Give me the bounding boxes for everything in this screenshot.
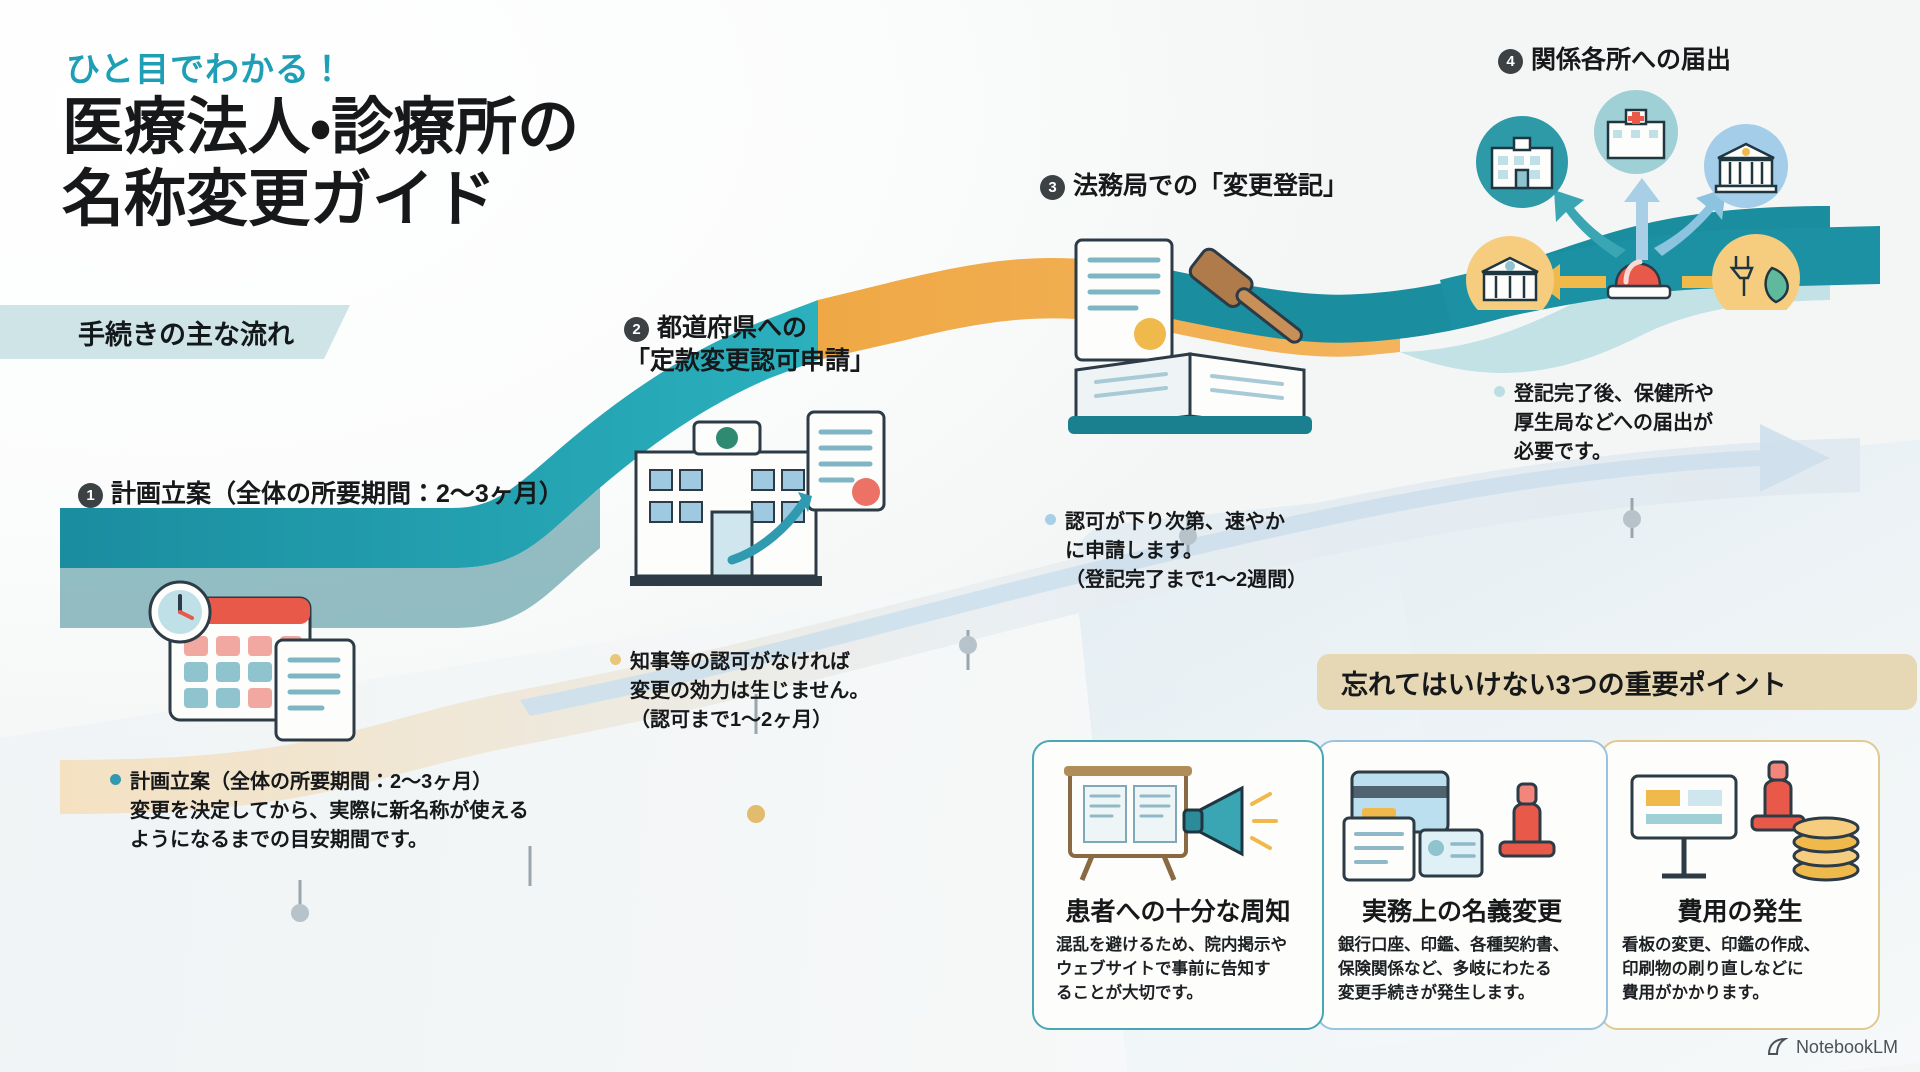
key-point-card-1[interactable]: 患者への十分な周知 混乱を避けるため、院内掲示や ウェブサイトで事前に告知す る… xyxy=(1032,740,1324,1030)
step-2-bullet-line-2: 変更の効力は生じません。 xyxy=(610,677,910,706)
notification-broadcast-institutions-icon xyxy=(1450,90,1810,310)
key-point-1-body-line-1: 混乱を避けるため、院内掲示や xyxy=(1056,934,1306,958)
step-1-number: 1 xyxy=(78,483,103,508)
step-3-bullet-line-3: （登記完了まで1〜2週間） xyxy=(1045,566,1365,595)
step-3-number: 3 xyxy=(1040,175,1065,200)
step-2-heading-line-2: 「定款変更認可申請」 xyxy=(624,345,875,378)
step-4-bullet-dot xyxy=(1494,386,1505,397)
step-3-bullet-dot xyxy=(1045,514,1056,525)
step-4-number: 4 xyxy=(1498,49,1523,74)
step-2-heading-line-1: 都道府県への xyxy=(657,314,807,342)
key-point-1-body-line-3: ることが大切です。 xyxy=(1056,982,1306,1006)
siren-icon xyxy=(1608,262,1670,298)
step-2-bullet: 知事等の認可がなければ 変更の効力は生じません。 （認可まで1〜2ヶ月） xyxy=(610,648,910,735)
stamp-icon xyxy=(1500,784,1554,856)
key-point-card-3[interactable]: 費用の発生 看板の変更、印鑑の作成、 印刷物の刷り直しなどに 費用がかかります。 xyxy=(1600,740,1880,1030)
key-points-banner: 忘れてはいけない3つの重要ポイント xyxy=(1317,654,1917,710)
key-point-1-title: 患者への十分な周知 xyxy=(1034,892,1322,928)
step-3-heading: 3法務局での「変更登記」 xyxy=(1040,170,1348,203)
key-point-2-body-line-3: 変更手続きが発生します。 xyxy=(1338,982,1590,1006)
step-3-bullet-line-2: に申請します。 xyxy=(1045,537,1365,566)
step-4-bullet: 登記完了後、保健所や 厚生局などへの届出が 必要です。 xyxy=(1494,380,1804,467)
key-points-cards: 患者への十分な周知 混乱を避けるため、院内掲示や ウェブサイトで事前に告知す る… xyxy=(1032,740,1894,1030)
page-title-line-2: 名称変更ガイド xyxy=(62,164,579,236)
key-point-1-body-line-2: ウェブサイトで事前に告知す xyxy=(1056,958,1306,982)
step-1-bullet-lead: 計画立案（全体の所要期間：2〜3ヶ月） xyxy=(130,771,492,793)
step-3-bullet: 認可が下り次第、速やか に申請します。 （登記完了まで1〜2週間） xyxy=(1045,508,1365,595)
step-4-bullet-line-2: 厚生局などへの届出が xyxy=(1494,409,1804,438)
key-point-2-body-line-1: 銀行口座、印鑑、各種契約書、 xyxy=(1338,934,1590,958)
step-2-bullet-line-1: 知事等の認可がなければ xyxy=(630,651,850,673)
calendar-clock-document-icon xyxy=(128,560,378,760)
step-1-bullet-dot xyxy=(110,774,121,785)
utilities-circle-icon xyxy=(1712,234,1800,310)
step-1-heading-text: 計画立案（全体の所要期間：2〜3ヶ月） xyxy=(111,480,564,508)
step-1-bullet-line-2: 変更を決定してから、実際に新名称が使える xyxy=(110,797,630,826)
stamp-icon xyxy=(1752,762,1804,830)
step-2-number: 2 xyxy=(624,317,649,342)
watermark: NotebookLM xyxy=(1766,1036,1898,1058)
step-2-bullet-line-3: （認可まで1〜2ヶ月） xyxy=(610,706,910,735)
notebooklm-logo-icon xyxy=(1766,1036,1788,1058)
infographic-canvas: ひと目でわかる！ 医療法人・診療所の 名称変更ガイド 手続きの主な流れ 1計画立… xyxy=(0,0,1920,1072)
key-point-1-body: 混乱を避けるため、院内掲示や ウェブサイトで事前に告知す ることが大切です。 xyxy=(1056,934,1306,1005)
page-kicker: ひと目でわかる！ xyxy=(66,42,345,91)
key-point-3-body-line-2: 印刷物の刷り直しなどに xyxy=(1622,958,1862,982)
watermark-label: NotebookLM xyxy=(1796,1037,1898,1058)
step-3-heading-text: 法務局での「変更登記」 xyxy=(1073,172,1348,200)
key-point-card-2[interactable]: 実務上の名義変更 銀行口座、印鑑、各種契約書、 保険関係など、多岐にわたる 変更… xyxy=(1316,740,1608,1030)
cards-documents-stamp-icon xyxy=(1318,756,1598,886)
flow-banner: 手続きの主な流れ xyxy=(0,305,350,359)
step-2-bullet-dot xyxy=(610,654,621,665)
page-title-line-1: 医療法人・診療所の xyxy=(62,92,579,164)
page-title: 医療法人・診療所の 名称変更ガイド xyxy=(62,92,579,236)
scroll-gavel-book-icon xyxy=(1040,230,1340,440)
government-building-document-icon xyxy=(612,400,902,600)
key-point-2-title: 実務上の名義変更 xyxy=(1318,892,1606,928)
step-1-bullet-line-3: ようになるまでの目安期間です。 xyxy=(110,826,630,855)
signboard-stamp-coins-icon xyxy=(1602,756,1882,886)
step-1-bullet: 計画立案（全体の所要期間：2〜3ヶ月） 変更を決定してから、実際に新名称が使える… xyxy=(110,768,630,855)
step-4-heading: 4関係各所への届出 xyxy=(1498,44,1731,77)
step-4-bullet-line-3: 必要です。 xyxy=(1494,438,1804,467)
key-point-2-body-line-2: 保険関係など、多岐にわたる xyxy=(1338,958,1590,982)
step-4-bullet-line-1: 登記完了後、保健所や xyxy=(1514,383,1714,405)
step-3-bullet-line-1: 認可が下り次第、速やか xyxy=(1065,511,1285,533)
key-point-3-title: 費用の発生 xyxy=(1602,892,1878,928)
step-2-heading: 2都道府県への 「定款変更認可申請」 xyxy=(624,312,875,378)
step-4-heading-text: 関係各所への届出 xyxy=(1531,46,1731,74)
board-megaphone-icon xyxy=(1034,756,1314,886)
key-point-3-body-line-3: 費用がかかります。 xyxy=(1622,982,1862,1006)
key-point-3-body-line-1: 看板の変更、印鑑の作成、 xyxy=(1622,934,1862,958)
coins-icon xyxy=(1794,818,1858,880)
key-point-2-body: 銀行口座、印鑑、各種契約書、 保険関係など、多岐にわたる 変更手続きが発生します… xyxy=(1338,934,1590,1005)
key-point-3-body: 看板の変更、印鑑の作成、 印刷物の刷り直しなどに 費用がかかります。 xyxy=(1622,934,1862,1005)
step-1-heading: 1計画立案（全体の所要期間：2〜3ヶ月） xyxy=(78,478,564,511)
